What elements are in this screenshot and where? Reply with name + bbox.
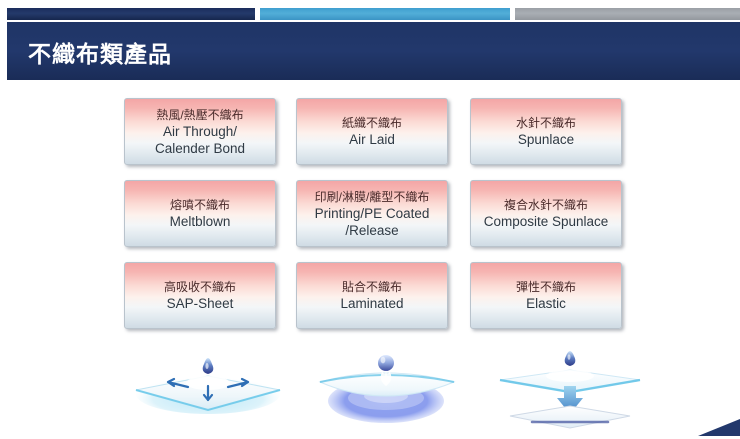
product-label-zh: 高吸收不織布 xyxy=(164,279,236,295)
product-label-zh: 熱風/熱壓不織布 xyxy=(156,107,243,123)
product-grid: 熱風/熱壓不織布 Air Through/ Calender Bond 紙纖不織… xyxy=(0,98,740,344)
product-label-en-line1: Air Laid xyxy=(349,131,395,148)
product-label-en-line2: Calender Bond xyxy=(155,140,245,157)
product-box-air-laid[interactable]: 紙纖不織布 Air Laid xyxy=(296,98,448,165)
product-row: 高吸收不織布 SAP-Sheet 貼合不織布 Laminated 彈性不織布 E… xyxy=(0,262,740,344)
product-box-composite-spunlace[interactable]: 複合水針不織布 Composite Spunlace xyxy=(470,180,622,247)
blue-bar xyxy=(260,8,510,20)
product-label-en-line1: Spunlace xyxy=(518,131,574,148)
product-row: 熱風/熱壓不織布 Air Through/ Calender Bond 紙纖不織… xyxy=(0,98,740,180)
product-box-laminated[interactable]: 貼合不織布 Laminated xyxy=(296,262,448,329)
product-label-en-line1: Elastic xyxy=(526,295,566,312)
page-title: 不織布類產品 xyxy=(28,35,172,69)
product-label-en-line1: Composite Spunlace xyxy=(484,213,609,230)
product-label-en-line1: SAP-Sheet xyxy=(167,295,234,312)
product-label-zh: 水針不織布 xyxy=(516,115,576,131)
product-row: 熔噴不織布 Meltblown 印刷/淋膜/離型不織布 Printing/PE … xyxy=(0,180,740,262)
product-label-zh: 熔噴不織布 xyxy=(170,197,230,213)
top-decorative-bars xyxy=(0,0,740,22)
droplet-absorbed-sheet-graphic xyxy=(298,338,478,434)
product-box-printing-pe-coated[interactable]: 印刷/淋膜/離型不織布 Printing/PE Coated /Release xyxy=(296,180,448,247)
droplet-penetrating-two-sheets-graphic xyxy=(480,338,660,434)
gray-bar xyxy=(515,8,740,20)
product-label-zh: 彈性不織布 xyxy=(516,279,576,295)
corner-accent-triangle xyxy=(698,419,740,436)
droplet-spreading-sheet-graphic xyxy=(118,338,298,434)
product-label-en-line1: Laminated xyxy=(340,295,403,312)
product-label-en-line1: Air Through/ xyxy=(163,123,237,140)
product-box-sap-sheet[interactable]: 高吸收不織布 SAP-Sheet xyxy=(124,262,276,329)
illustration-row xyxy=(0,338,740,436)
product-label-zh: 貼合不織布 xyxy=(342,279,402,295)
title-banner: 不織布類產品 xyxy=(7,22,740,80)
product-box-meltblown[interactable]: 熔噴不織布 Meltblown xyxy=(124,180,276,247)
product-label-en-line1: Meltblown xyxy=(170,213,231,230)
product-box-air-through[interactable]: 熱風/熱壓不織布 Air Through/ Calender Bond xyxy=(124,98,276,165)
product-box-spunlace[interactable]: 水針不織布 Spunlace xyxy=(470,98,622,165)
product-label-zh: 紙纖不織布 xyxy=(342,115,402,131)
product-label-en-line2: /Release xyxy=(345,222,398,239)
product-label-zh: 印刷/淋膜/離型不織布 xyxy=(315,189,430,205)
product-box-elastic[interactable]: 彈性不織布 Elastic xyxy=(470,262,622,329)
product-label-en-line1: Printing/PE Coated xyxy=(315,205,430,222)
product-label-zh: 複合水針不織布 xyxy=(504,197,588,213)
navy-bar xyxy=(7,8,255,20)
